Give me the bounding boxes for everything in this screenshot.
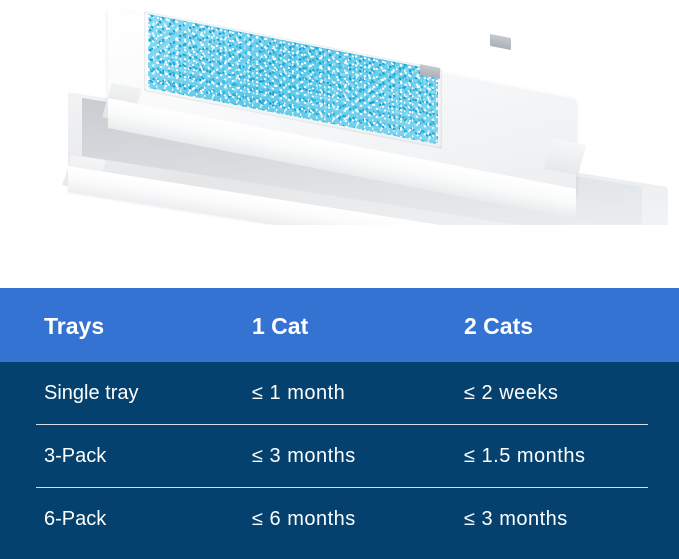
cell-two-cats-lifespan: ≤ 1.5 months xyxy=(464,445,585,468)
table-body: Single tray ≤ 1 month ≤ 2 weeks 3-Pack ≤… xyxy=(0,362,679,559)
cell-one-cat-lifespan: ≤ 1 month xyxy=(252,382,345,405)
cell-two-cats-lifespan: ≤ 3 months xyxy=(464,508,568,531)
table-row: 3-Pack ≤ 3 months ≤ 1.5 months xyxy=(0,425,679,488)
title-band: Average tray lifespan xyxy=(0,225,679,288)
cell-tray-type: 3-Pack xyxy=(44,445,106,468)
table-header-row: Trays 1 Cat 2 Cats xyxy=(0,288,679,362)
cell-two-cats-lifespan: ≤ 2 weeks xyxy=(464,382,558,405)
column-header-two-cats: 2 Cats xyxy=(464,313,533,340)
cell-tray-type: Single tray xyxy=(44,382,139,405)
table-row: 6-Pack ≤ 6 months ≤ 3 months xyxy=(0,488,679,551)
table-row: Single tray ≤ 1 month ≤ 2 weeks xyxy=(0,362,679,425)
cell-one-cat-lifespan: ≤ 6 months xyxy=(252,508,356,531)
cell-tray-type: 6-Pack xyxy=(44,508,106,531)
column-header-trays: Trays xyxy=(44,313,104,340)
tray-handle-tab-icon xyxy=(490,34,511,50)
cell-one-cat-lifespan: ≤ 3 months xyxy=(252,445,356,468)
column-header-one-cat: 1 Cat xyxy=(252,313,308,340)
top-tray xyxy=(108,8,576,160)
lifespan-table: Trays 1 Cat 2 Cats Single tray ≤ 1 month… xyxy=(0,288,679,559)
